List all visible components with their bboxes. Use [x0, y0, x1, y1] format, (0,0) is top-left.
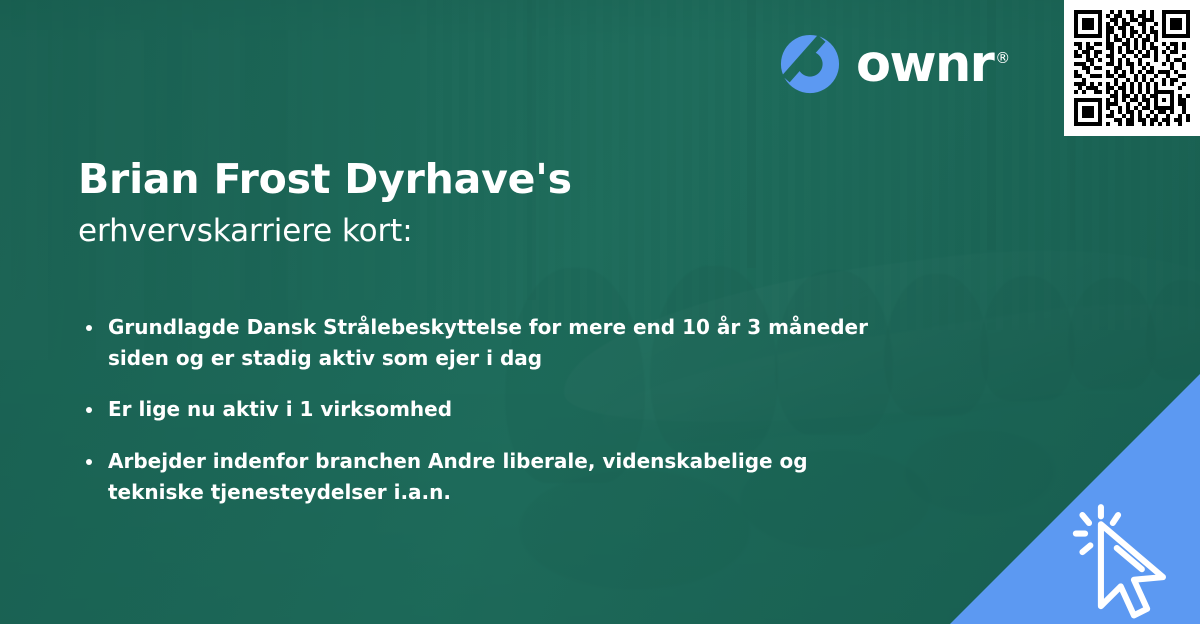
headline-line-2: erhvervskarriere kort:	[78, 213, 798, 250]
ownr-logo[interactable]: ownr®	[779, 33, 1010, 95]
page-title: Brian Frost Dyrhave's erhvervskarriere k…	[78, 156, 798, 250]
list-item: Er lige nu aktiv i 1 virksomhed	[82, 394, 872, 425]
ownr-wordmark: ownr®	[856, 39, 1010, 90]
business-career-card: Brian Frost Dyrhave's erhvervskarriere k…	[0, 0, 1200, 624]
list-item: Arbejder indenfor branchen Andre liberal…	[82, 446, 872, 508]
card-content: Brian Frost Dyrhave's erhvervskarriere k…	[0, 0, 1200, 624]
qr-code-icon	[1074, 10, 1190, 126]
click-cursor-icon	[1060, 490, 1192, 622]
headline-line-1: Brian Frost Dyrhave's	[78, 156, 798, 204]
list-item: Grundlagde Dansk Strålebeskyttelse for m…	[82, 312, 872, 374]
blue-triangle	[950, 374, 1200, 624]
registered-trademark-symbol: ®	[995, 49, 1010, 67]
corner-badge	[950, 374, 1200, 624]
qr-code-panel[interactable]	[1064, 0, 1200, 136]
logo-name: ownr	[856, 35, 993, 94]
ownr-circle-slash-icon	[779, 33, 841, 95]
career-facts-list: Grundlagde Dansk Strålebeskyttelse for m…	[82, 312, 872, 528]
